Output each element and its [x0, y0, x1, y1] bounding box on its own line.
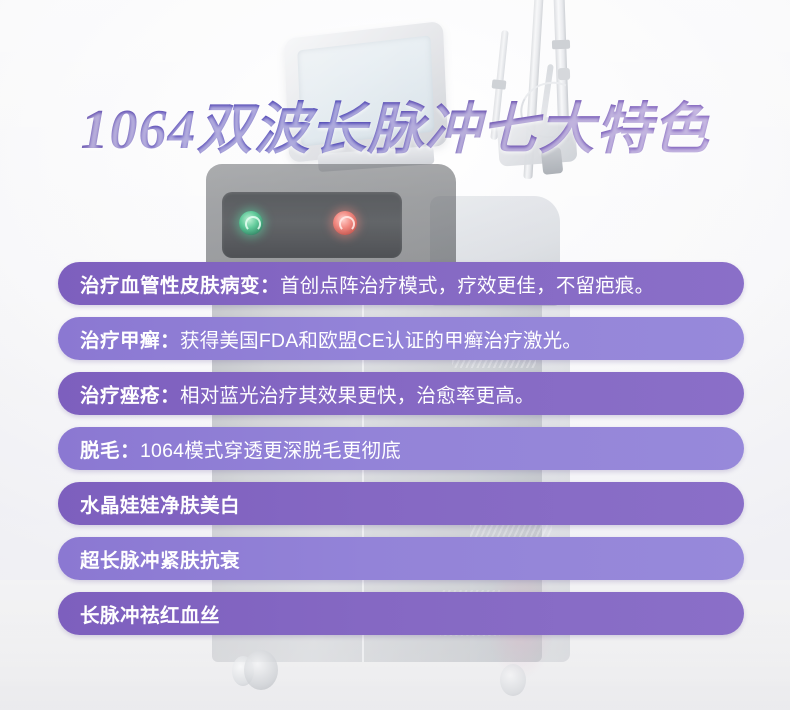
- feature-item-6-lead: 超长脉冲紧肤抗衰: [80, 544, 240, 573]
- feature-item-1-lead: 治疗血管性皮肤病变：: [80, 269, 280, 298]
- feature-item-2-lead: 治疗甲癣：: [80, 324, 180, 353]
- feature-item-5-lead: 水晶娃娃净肤美白: [80, 489, 240, 518]
- feature-item-3-rest: 相对蓝光治疗其效果更快，治愈率更高。: [180, 379, 535, 408]
- feature-item-3: 治疗痤疮：相对蓝光治疗其效果更快，治愈率更高。: [58, 372, 744, 415]
- feature-item-1: 治疗血管性皮肤病变：首创点阵治疗模式，疗效更佳，不留疤痕。: [58, 262, 744, 305]
- feature-item-7: 长脉冲祛红血丝: [58, 592, 744, 635]
- feature-list: 治疗血管性皮肤病变：首创点阵治疗模式，疗效更佳，不留疤痕。 治疗甲癣：获得美国F…: [58, 262, 744, 647]
- feature-item-4-lead: 脱毛：: [80, 434, 140, 463]
- feature-item-5: 水晶娃娃净肤美白: [58, 482, 744, 525]
- feature-item-4-rest: 1064模式穿透更深脱毛更彻底: [140, 434, 401, 463]
- page-title: 1064双波长脉冲七大特色: [0, 84, 790, 165]
- feature-item-6: 超长脉冲紧肤抗衰: [58, 537, 744, 580]
- feature-item-3-lead: 治疗痤疮：: [80, 379, 180, 408]
- feature-item-2-rest: 获得美国FDA和欧盟CE认证的甲癣治疗激光。: [180, 324, 582, 353]
- feature-item-1-rest: 首创点阵治疗模式，疗效更佳，不留疤痕。: [280, 269, 654, 298]
- feature-item-2: 治疗甲癣：获得美国FDA和欧盟CE认证的甲癣治疗激光。: [58, 317, 744, 360]
- poster-canvas: 1064双波长脉冲七大特色 治疗血管性皮肤病变：首创点阵治疗模式，疗效更佳，不留…: [0, 0, 790, 710]
- feature-item-4: 脱毛：1064模式穿透更深脱毛更彻底: [58, 427, 744, 470]
- feature-item-7-lead: 长脉冲祛红血丝: [80, 599, 220, 628]
